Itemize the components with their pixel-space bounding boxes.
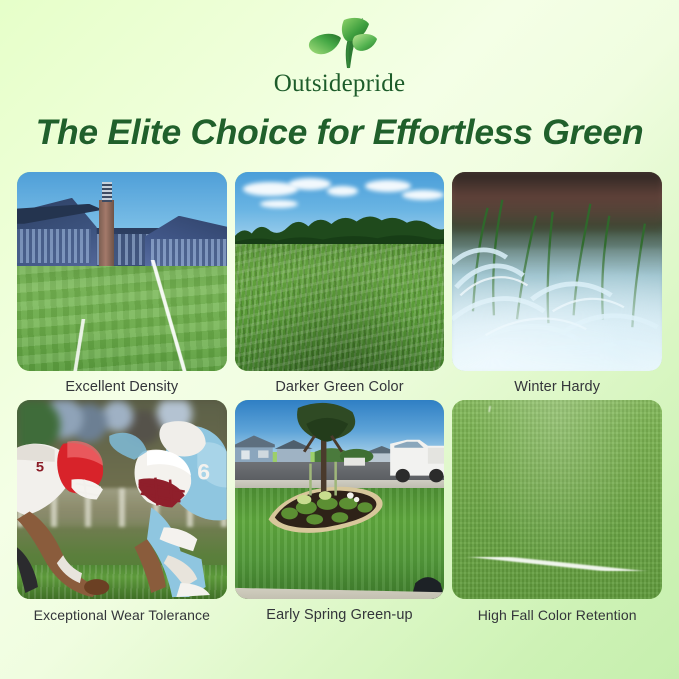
feature-caption: Excellent Density xyxy=(17,379,227,395)
turf-mark xyxy=(482,406,499,412)
feature-cell-high-fall-color-retention: High Fall Color Retention xyxy=(452,400,662,623)
feature-cell-early-spring-green-up: Early Spring Green-up xyxy=(235,400,445,623)
feature-cell-excellent-density: Excellent Density xyxy=(17,172,227,395)
cloud xyxy=(327,186,358,196)
cloud xyxy=(365,180,411,192)
feature-caption: Early Spring Green-up xyxy=(235,607,445,623)
open-grass-field-image xyxy=(235,172,445,371)
pitch-line-left xyxy=(23,319,136,371)
cloud xyxy=(289,178,331,190)
floodlight-mast xyxy=(102,182,112,202)
feature-cell-darker-green-color: Darker Green Color xyxy=(235,172,445,395)
tree-line xyxy=(235,212,445,248)
leaf-sprout-icon xyxy=(297,14,383,70)
feature-caption: Exceptional Wear Tolerance xyxy=(17,607,227,623)
grass-field xyxy=(235,244,445,371)
turf-chalk-line-image xyxy=(452,400,662,599)
svg-text:5: 5 xyxy=(36,460,44,476)
cloud xyxy=(402,190,444,200)
stadium-tower xyxy=(99,200,115,272)
brand-wordmark: Outsidepride xyxy=(274,71,406,96)
page-headline: The Elite Choice for Effortless Green xyxy=(0,113,679,152)
football-players-image: 5 6 xyxy=(17,400,227,599)
feature-grid: Excellent Density xyxy=(17,172,662,623)
chalk-line xyxy=(452,557,662,571)
feature-caption: High Fall Color Retention xyxy=(452,607,662,623)
lawn-features xyxy=(235,400,445,599)
feature-cell-winter-hardy: Winter Hardy xyxy=(452,172,662,395)
cloud xyxy=(260,200,298,208)
suburban-lawn-image xyxy=(235,400,445,599)
brand-logo: Outsidepride xyxy=(0,14,679,96)
frosted-grass-image xyxy=(452,172,662,371)
feature-caption: Darker Green Color xyxy=(235,379,445,395)
feature-caption: Winter Hardy xyxy=(452,379,662,395)
svg-text:6: 6 xyxy=(197,460,210,484)
frost-layer xyxy=(452,248,662,371)
stadium-pitch-image xyxy=(17,172,227,371)
players: 5 6 xyxy=(17,400,227,599)
feature-cell-exceptional-wear-tolerance: 5 6 xyxy=(17,400,227,623)
